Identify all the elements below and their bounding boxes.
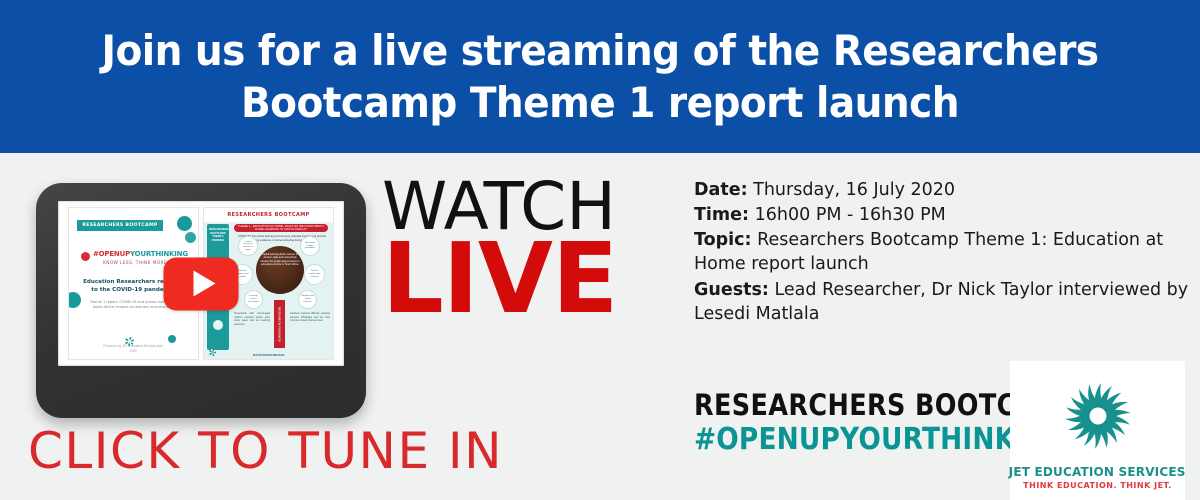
sunburst-swirl-icon [1051,369,1145,463]
virus-icon [177,216,192,231]
globe-icon [213,320,223,330]
play-triangle-icon [193,271,215,297]
virus-icon [185,232,196,243]
jet-logo-name: JET EDUCATION SERVICES [1009,464,1186,479]
right-panel: Date: Thursday, 16 July 2020 Time: 16h00… [672,153,1200,500]
thumbnail-bubble: Nutrition and safety concerns [298,290,317,309]
youtube-play-button-icon[interactable] [164,257,239,310]
detail-value-topic: Researchers Bootcamp Theme 1: Education … [694,230,1163,274]
left-panel: RESEARCHERS BOOTCAMP #OPENUPYOURTHINKING… [0,153,672,500]
thumbnail-bubble: Learning losses accumulate [244,290,263,309]
bootcamp-hashtag: #OPENUPYOURTHINKING [694,424,976,456]
thumbnail-bubble: Data costs remain prohibitive [300,236,320,256]
promo-poster: Join us for a live streaming of the Rese… [0,0,1200,500]
thumbnail-infographic-header: RESEARCHERS BOOTCAMP [204,208,333,222]
hashtag-part-one: #OPENUP [93,250,130,258]
detail-value-time: 16h00 PM - 16h30 PM [755,205,946,225]
detail-label-date: Date: [694,180,748,200]
detail-label-guests: Guests: [694,280,769,300]
virus-icon [81,252,90,261]
bootcamp-title: RESEARCHERS BOOTCAMP [694,391,976,421]
video-thumbnail[interactable]: RESEARCHERS BOOTCAMP #OPENUPYOURTHINKING… [64,205,338,362]
detail-value-guests: Lead Researcher, Dr Nick Taylor intervie… [694,280,1188,324]
thumbnail-bubble: Limited access to devices at home [238,236,258,256]
thumbnail-column-left: Households with school-aged children rep… [234,312,270,326]
event-details: Date: Thursday, 16 July 2020 Time: 16h00… [694,178,1194,327]
jet-education-services-logo: JET EDUCATION SERVICES THINK EDUCATION. … [1010,361,1185,500]
thumbnail-bubble: Teacher contact time reduced [304,264,325,285]
tablet-screen: RESEARCHERS BOOTCAMP #OPENUPYOURTHINKING… [58,201,344,366]
header-banner: Join us for a live streaming of the Rese… [0,0,1200,153]
researchers-bootcamp-logo: RESEARCHERS BOOTCAMP #OPENUPYOURTHINKING [694,391,1014,455]
detail-row-date: Date: Thursday, 16 July 2020 [694,178,1194,202]
tablet-device: RESEARCHERS BOOTCAMP #OPENUPYOURTHINKING… [36,183,366,418]
watch-live-wordmark: WATCH LIVE [382,175,672,324]
thumbnail-cover-band: RESEARCHERS BOOTCAMP [77,220,163,231]
thumbnail-infographic-footer: JET EDUCATION SERVICES [204,354,333,357]
detail-label-time: Time: [694,205,749,225]
thumbnail-cover-subtitle: KNOW LESS. THINK MORE. [103,261,169,266]
detail-row-topic: Topic: Researchers Bootcamp Theme 1: Edu… [694,228,1194,276]
page-title: Join us for a live streaming of the Rese… [61,25,1140,127]
thumbnail-sidebar-title: RESEARCHERS BOOTCAMP THEME 1 FINDINGS [209,228,227,243]
detail-value-date: Thursday, 16 July 2020 [753,180,955,200]
jet-logo-tagline: THINK EDUCATION. THINK JET. [1023,481,1172,490]
click-to-tune-in-label[interactable]: CLICK TO TUNE IN [28,426,503,476]
thumbnail-center-node: Digital learning divide. Access to devic… [256,246,304,294]
virus-icon [68,292,81,308]
live-label: LIVE [382,234,672,323]
thumbnail-infographic-pill: THEME 1 - EDUCATION AT HOME: WHAT DO WE … [234,224,328,232]
thumbnail-column-right: Teachers reported difficulty reaching le… [290,312,330,323]
virus-icon [168,335,176,343]
detail-row-guests: Guests: Lead Researcher, Dr Nick Taylor … [694,278,1194,326]
thumbnail-cover-footer: Produced by JET Education Services April… [103,344,163,353]
thumbnail-vertical-banner: RESEARCH FINDINGS [274,300,285,348]
detail-row-time: Time: 16h00 PM - 16h30 PM [694,203,1194,227]
detail-label-topic: Topic: [694,230,752,250]
